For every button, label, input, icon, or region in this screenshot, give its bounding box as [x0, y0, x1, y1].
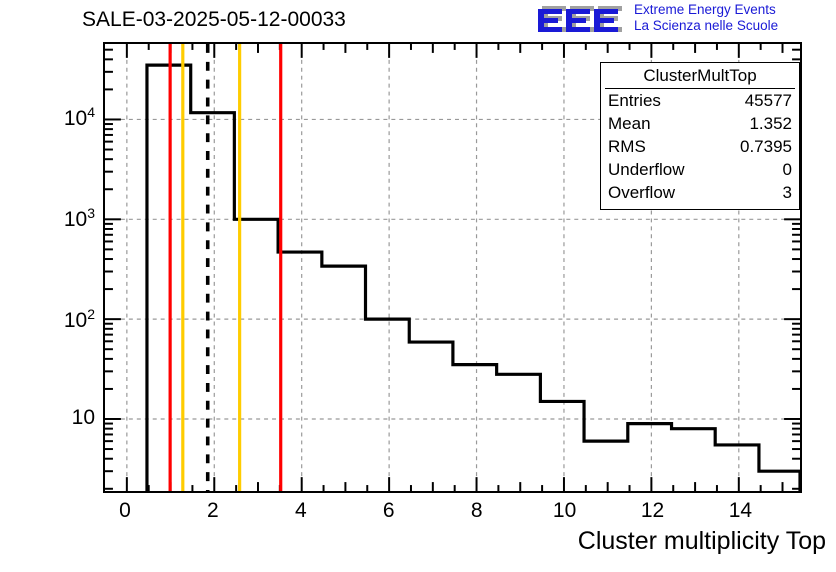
- y-tick-mantissa: 10: [64, 107, 87, 130]
- stats-row-key: Entries: [608, 89, 661, 112]
- y-tick-mantissa: 10: [64, 208, 87, 231]
- stats-row: Overflow3: [601, 181, 799, 204]
- stats-row-value: 0: [783, 158, 792, 181]
- stats-row: Mean1.352: [601, 112, 799, 135]
- x-axis-tick-label: 10: [535, 499, 595, 523]
- y-axis-tick-label: 103: [64, 205, 95, 232]
- page-title: SALE-03-2025-05-12-00033: [82, 8, 346, 32]
- stats-row-key: Overflow: [608, 181, 675, 204]
- y-axis-tick-label: 104: [64, 104, 95, 131]
- stats-row-value: 3: [783, 181, 792, 204]
- stats-row: RMS0.7395: [601, 135, 799, 158]
- x-axis-tick-label: 6: [359, 499, 419, 523]
- root-canvas: SALE-03-2025-05-12-00033: [0, 0, 836, 572]
- stats-row: Underflow0: [601, 158, 799, 181]
- stats-row-value: 0.7395: [740, 135, 792, 158]
- eee-logo-line2: La Scienza nelle Scuole: [634, 18, 778, 34]
- y-axis-tick-label: 102: [64, 306, 95, 333]
- y-tick-exponent: 4: [87, 104, 95, 120]
- x-axis-title: Cluster multiplicity Top: [578, 527, 826, 556]
- y-axis-tick-label: 10: [72, 406, 95, 430]
- stats-row-key: RMS: [608, 135, 646, 158]
- x-axis-tick-label: 8: [447, 499, 507, 523]
- y-tick-mantissa: 10: [64, 309, 87, 332]
- x-axis-tick-label: 4: [271, 499, 331, 523]
- eee-logo-line1: Extreme Energy Events: [634, 2, 778, 18]
- eee-logo-mark-icon: [538, 4, 624, 34]
- stats-row-key: Underflow: [608, 158, 685, 181]
- y-tick-exponent: 2: [87, 306, 95, 322]
- stats-rows: Entries45577Mean1.352RMS0.7395Underflow0…: [601, 89, 799, 204]
- stats-title: ClusterMultTop: [605, 63, 795, 89]
- x-axis-tick-label: 2: [183, 499, 243, 523]
- x-axis-tick-label: 12: [623, 499, 683, 523]
- x-axis-tick-label: 0: [95, 499, 155, 523]
- stats-row-value: 1.352: [749, 112, 792, 135]
- eee-logo: Extreme Energy Events La Scienza nelle S…: [538, 2, 834, 36]
- stats-row: Entries45577: [601, 89, 799, 112]
- stats-row-value: 45577: [745, 89, 792, 112]
- eee-logo-text: Extreme Energy Events La Scienza nelle S…: [634, 2, 778, 34]
- y-tick-exponent: 3: [87, 205, 95, 221]
- stats-row-key: Mean: [608, 112, 651, 135]
- y-tick-mantissa: 10: [72, 406, 95, 429]
- stats-box: ClusterMultTop Entries45577Mean1.352RMS0…: [600, 62, 800, 210]
- x-axis-tick-label: 14: [710, 499, 770, 523]
